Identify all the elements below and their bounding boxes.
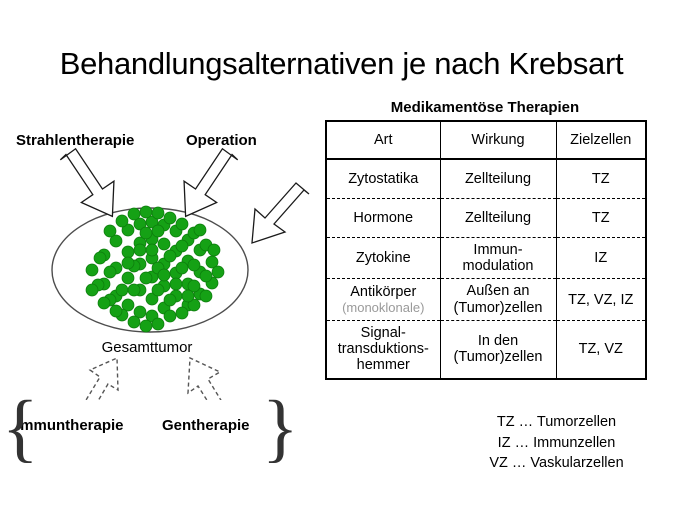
label-gentherapie: Gentherapie bbox=[162, 417, 250, 434]
table-heading: Medikamentöse Therapien bbox=[325, 99, 645, 116]
cell-wirkung: Zellteilung bbox=[440, 159, 556, 199]
cell-zielzellen: TZ bbox=[556, 199, 646, 238]
cell-wirkung: Außen an(Tumor)zellen bbox=[440, 279, 556, 320]
therapy-table-body: ZytostatikaZellteilungTZHormoneZellteilu… bbox=[326, 159, 646, 379]
cell-art: Hormone bbox=[326, 199, 440, 238]
legend-line-iz: IZ … Immunzellen bbox=[430, 433, 683, 454]
cell-wirkung: In den(Tumor)zellen bbox=[440, 320, 556, 378]
brace-right: } bbox=[262, 390, 298, 466]
table-row: HormoneZellteilungTZ bbox=[326, 199, 646, 238]
arrow-immuntherapie bbox=[76, 358, 118, 400]
cell-art: Zytostatika bbox=[326, 159, 440, 199]
cell-zielzellen: TZ bbox=[556, 159, 646, 199]
slide-canvas: Behandlungsalternativen je nach Krebsart bbox=[0, 0, 683, 512]
therapy-table: Art Wirkung Zielzellen ZytostatikaZellte… bbox=[325, 120, 647, 380]
column-header-art: Art bbox=[326, 121, 440, 159]
legend-line-vz: VZ … Vaskularzellen bbox=[430, 453, 683, 474]
brace-left: { bbox=[2, 390, 38, 466]
column-header-wirkung: Wirkung bbox=[440, 121, 556, 159]
cell-zielzellen: TZ, VZ bbox=[556, 320, 646, 378]
arrow-gentherapie bbox=[188, 358, 234, 400]
cell-art: Zytokine bbox=[326, 238, 440, 279]
cell-wirkung: Immun-modulation bbox=[440, 238, 556, 279]
page-title: Behandlungsalternativen je nach Krebsart bbox=[0, 46, 683, 82]
cell-wirkung: Zellteilung bbox=[440, 199, 556, 238]
cell-art-note: (monoklonale) bbox=[329, 301, 438, 316]
cell-art-main: Signal-transduktions-hemmer bbox=[338, 325, 429, 373]
arrow-strahlentherapie bbox=[60, 146, 117, 219]
legend-line-tz: TZ … Tumorzellen bbox=[430, 412, 683, 433]
arrow-operation bbox=[182, 146, 239, 219]
column-header-zielzellen: Zielzellen bbox=[556, 121, 646, 159]
cell-art: Antikörper(monoklonale) bbox=[326, 279, 440, 320]
cell-art-main: Zytostatika bbox=[348, 171, 418, 187]
cell-art-main: Zytokine bbox=[356, 250, 411, 266]
label-strahlentherapie: Strahlentherapie bbox=[16, 132, 134, 149]
arrow-right-side bbox=[252, 183, 309, 243]
cell-art: Signal-transduktions-hemmer bbox=[326, 320, 440, 378]
label-gesamttumor: Gesamttumor bbox=[0, 339, 294, 356]
cell-art-main: Hormone bbox=[353, 210, 413, 226]
abbreviation-legend: TZ … Tumorzellen IZ … Immunzellen VZ … V… bbox=[430, 412, 683, 474]
table-row: Signal-transduktions-hemmerIn den(Tumor)… bbox=[326, 320, 646, 378]
table-header-row: Art Wirkung Zielzellen bbox=[326, 121, 646, 159]
table-row: Antikörper(monoklonale)Außen an(Tumor)ze… bbox=[326, 279, 646, 320]
cell-zielzellen: IZ bbox=[556, 238, 646, 279]
label-operation: Operation bbox=[186, 132, 257, 149]
cell-zielzellen: TZ, VZ, IZ bbox=[556, 279, 646, 320]
table-row: ZytokineImmun-modulationIZ bbox=[326, 238, 646, 279]
table-row: ZytostatikaZellteilungTZ bbox=[326, 159, 646, 199]
cell-art-main: Antikörper bbox=[350, 284, 416, 300]
